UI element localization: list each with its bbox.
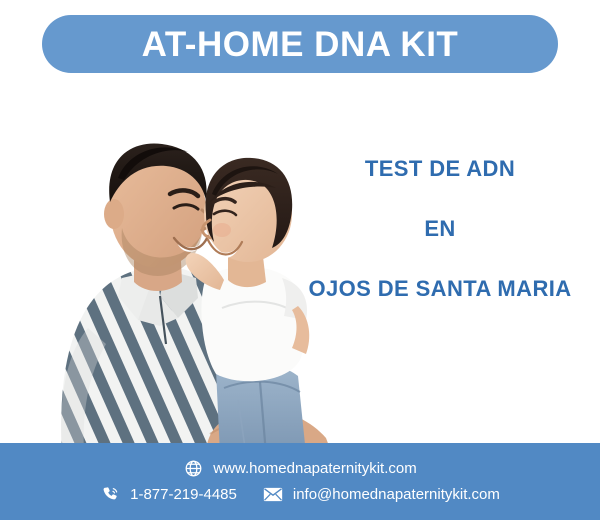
- footer-contact-bar: www.homednapaternitykit.com 1-877-219-44…: [0, 443, 600, 520]
- globe-icon: [183, 459, 203, 479]
- headline-line-2: EN: [290, 218, 590, 240]
- envelope-icon: [263, 485, 283, 505]
- header-banner: AT-HOME DNA KIT: [42, 15, 558, 73]
- phone-item[interactable]: 1-877-219-4485: [100, 485, 237, 505]
- phone-label: 1-877-219-4485: [130, 487, 237, 502]
- footer-row-website: www.homednapaternitykit.com: [183, 459, 416, 479]
- banner-title: AT-HOME DNA KIT: [142, 27, 459, 62]
- email-label: info@homednapaternitykit.com: [293, 487, 500, 502]
- footer-row-phone-email: 1-877-219-4485 info@homednapaternitykit.…: [100, 485, 500, 505]
- email-item[interactable]: info@homednapaternitykit.com: [263, 485, 500, 505]
- at-home-dna-kit-promo-card: AT-HOME DNA KIT: [0, 0, 600, 520]
- headline-line-3: OJOS DE SANTA MARIA: [290, 278, 590, 300]
- website-label: www.homednapaternitykit.com: [213, 461, 416, 476]
- phone-icon: [100, 485, 120, 505]
- headline-line-1: TEST DE ADN: [290, 158, 590, 180]
- headline-block: TEST DE ADN EN OJOS DE SANTA MARIA: [290, 158, 590, 300]
- website-item[interactable]: www.homednapaternitykit.com: [183, 459, 416, 479]
